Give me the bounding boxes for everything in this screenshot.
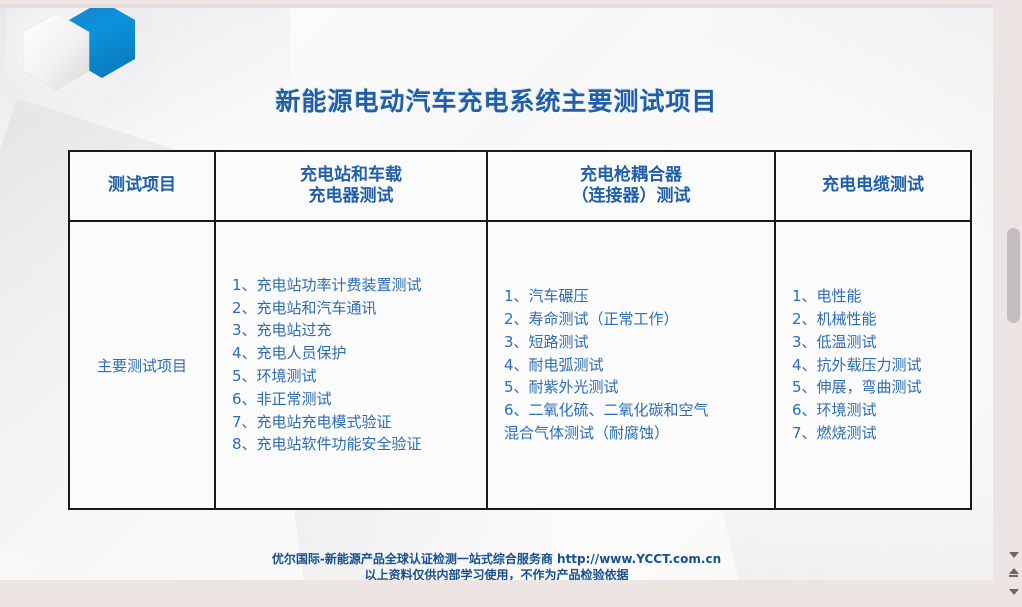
header-line: 充电电缆测试 [777, 175, 969, 196]
list-item: 7、燃烧测试 [792, 422, 964, 445]
document-viewer: 新能源电动汽车充电系统主要测试项目 测试项目 充电站和车载 充电器测试 充电枪耦… [0, 0, 1022, 607]
list-item: 6、二氧化硫、二氧化碳和空气 [504, 399, 768, 422]
list-item: 3、短路测试 [504, 331, 768, 354]
table-header-coupler: 充电枪耦合器 （连接器）测试 [487, 151, 775, 221]
list-item: 2、充电站和汽车通讯 [232, 297, 480, 320]
page-title: 新能源电动汽车充电系统主要测试项目 [0, 82, 993, 118]
list-item: 3、低温测试 [792, 331, 964, 354]
table-body-row: 主要测试项目 1、充电站功率计费装置测试 2、充电站和汽车通讯 3、充电站过充 … [69, 221, 971, 509]
list-item: 5、耐紫外光测试 [504, 376, 768, 399]
slide-canvas: 新能源电动汽车充电系统主要测试项目 测试项目 充电站和车载 充电器测试 充电枪耦… [0, 4, 993, 580]
footer-line-2: 以上资料仅供内部学习使用，不作为产品检验依据 [0, 568, 993, 580]
list-item: 7、充电站充电模式验证 [232, 411, 480, 434]
list-item: 8、充电站软件功能安全验证 [232, 433, 480, 456]
next-page-button[interactable] [1007, 585, 1020, 598]
list-item: 2、机械性能 [792, 308, 964, 331]
list-item: 3、充电站过充 [232, 319, 480, 342]
footer-line-1: 优尔国际-新能源产品全球认证检测一站式综合服务商 http://www.YCCT… [272, 552, 721, 566]
vertical-scrollbar[interactable] [1005, 0, 1022, 607]
list-item: 2、寿命测试（正常工作） [504, 308, 768, 331]
triangle-up-icon [1009, 568, 1019, 577]
scroll-up-button[interactable] [1007, 566, 1020, 579]
item-list-coupler: 1、汽车碾压 2、寿命测试（正常工作） 3、短路测试 4、耐电弧测试 5、耐紫外… [494, 285, 768, 445]
triangle-down-icon [1009, 552, 1019, 558]
table-header-cable: 充电电缆测试 [775, 151, 971, 221]
row-label-main-test-items: 主要测试项目 [69, 221, 215, 509]
item-list-cable: 1、电性能 2、机械性能 3、低温测试 4、抗外载压力测试 5、伸展，弯曲测试 … [782, 285, 964, 445]
test-items-table: 测试项目 充电站和车载 充电器测试 充电枪耦合器 （连接器）测试 充电电缆测试 … [68, 150, 972, 510]
list-item: 4、耐电弧测试 [504, 354, 768, 377]
item-list-charging-station: 1、充电站功率计费装置测试 2、充电站和汽车通讯 3、充电站过充 4、充电人员保… [222, 274, 480, 456]
list-item: 1、电性能 [792, 285, 964, 308]
cell-cable-items: 1、电性能 2、机械性能 3、低温测试 4、抗外载压力测试 5、伸展，弯曲测试 … [775, 221, 971, 509]
list-item: 1、充电站功率计费装置测试 [232, 274, 480, 297]
table-header-test-item: 测试项目 [69, 151, 215, 221]
list-item: 5、环境测试 [232, 365, 480, 388]
table-header-charging-station: 充电站和车载 充电器测试 [215, 151, 487, 221]
list-item: 4、抗外载压力测试 [792, 354, 964, 377]
list-item: 4、充电人员保护 [232, 342, 480, 365]
header-line: 充电枪耦合器 [489, 165, 773, 186]
previous-page-button[interactable] [1007, 548, 1020, 561]
triangle-down-icon [1009, 589, 1019, 595]
slide-footer: 优尔国际-新能源产品全球认证检测一站式综合服务商 http://www.YCCT… [0, 552, 993, 580]
list-item: 6、非正常测试 [232, 388, 480, 411]
cell-charging-station-items: 1、充电站功率计费装置测试 2、充电站和汽车通讯 3、充电站过充 4、充电人员保… [215, 221, 487, 509]
header-line: （连接器）测试 [489, 186, 773, 207]
header-line: 充电器测试 [217, 186, 485, 207]
header-line: 充电站和车载 [217, 165, 485, 186]
list-item: 6、环境测试 [792, 399, 964, 422]
list-item-continuation: 混合气体测试（耐腐蚀） [504, 422, 768, 445]
list-item: 5、伸展，弯曲测试 [792, 376, 964, 399]
table-header-row: 测试项目 充电站和车载 充电器测试 充电枪耦合器 （连接器）测试 充电电缆测试 [69, 151, 971, 221]
scrollbar-thumb[interactable] [1007, 228, 1020, 323]
list-item: 1、汽车碾压 [504, 285, 768, 308]
header-line: 测试项目 [71, 175, 213, 196]
cell-coupler-items: 1、汽车碾压 2、寿命测试（正常工作） 3、短路测试 4、耐电弧测试 5、耐紫外… [487, 221, 775, 509]
viewer-top-strip [0, 4, 993, 8]
